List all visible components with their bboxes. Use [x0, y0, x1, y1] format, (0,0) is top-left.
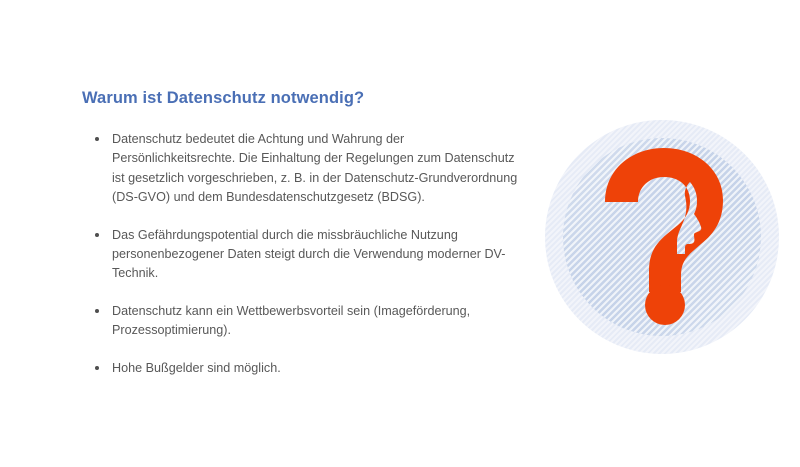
bullet-point-icon [95, 233, 99, 237]
page-title: Warum ist Datenschutz notwendig? [82, 89, 364, 108]
list-item-text: Datenschutz kann ein Wettbewerbsvorteil … [112, 304, 470, 337]
bullet-point-icon [95, 137, 99, 141]
question-mark-glyph-icon [545, 120, 779, 354]
bullet-list: Datenschutz bedeutet die Achtung und Wah… [88, 130, 520, 378]
bullet-point-icon [95, 309, 99, 313]
list-item-text: Hohe Bußgelder sind möglich. [112, 361, 281, 375]
list-item: Datenschutz bedeutet die Achtung und Wah… [88, 130, 520, 208]
list-item-text: Datenschutz bedeutet die Achtung und Wah… [112, 132, 517, 204]
list-item: Das Gefährdungspotential durch die missb… [88, 226, 520, 284]
list-item-text: Das Gefährdungspotential durch die missb… [112, 228, 505, 281]
list-item: Hohe Bußgelder sind möglich. [88, 359, 520, 378]
question-mark-head-icon [545, 120, 779, 354]
list-item: Datenschutz kann ein Wettbewerbsvorteil … [88, 302, 520, 341]
slide: Warum ist Datenschutz notwendig? Datensc… [0, 0, 800, 467]
bullet-point-icon [95, 366, 99, 370]
